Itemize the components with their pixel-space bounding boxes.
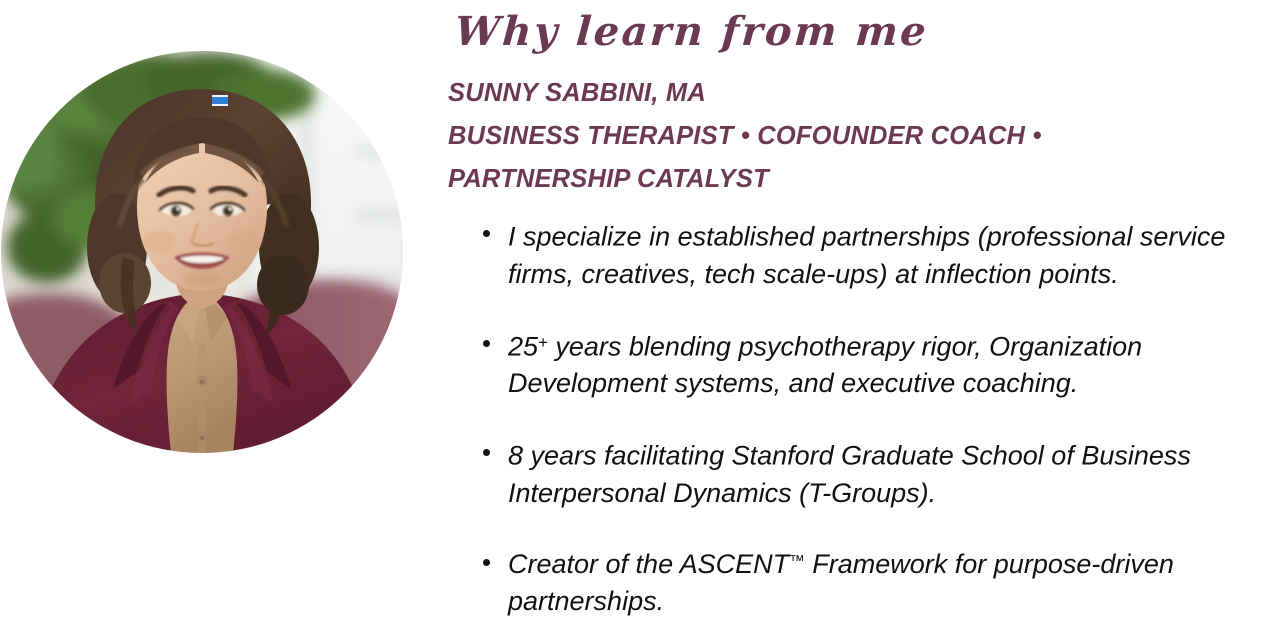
bullet-text: I specialize in established partnerships…	[508, 214, 1280, 293]
list-item: 8 years facilitating Stanford Graduate S…	[470, 433, 1280, 512]
bullet-body: 8 years facilitating Stanford Graduate S…	[508, 441, 1191, 508]
content-column: Why learn from me SUNNY SABBINI, MA BUSI…	[448, 0, 1280, 613]
photo-window-artifact	[212, 95, 228, 106]
bullet-text: 8 years facilitating Stanford Graduate S…	[508, 433, 1280, 512]
bullet-body: years blending psychotherapy rigor, Orga…	[508, 331, 1142, 398]
bullet-dot-icon	[483, 449, 490, 456]
credential-line-roles-2: PARTNERSHIP CATALYST	[448, 158, 1068, 201]
bullet-prefix: Creator of the ASCENT	[508, 549, 789, 579]
slide-canvas: Why learn from me SUNNY SABBINI, MA BUSI…	[0, 0, 1280, 613]
speaker-credentials: SUNNY SABBINI, MA BUSINESS THERAPIST • C…	[448, 72, 1068, 201]
trademark-icon: ™	[789, 553, 805, 570]
portrait-photo	[1, 51, 403, 453]
bullet-dot-icon	[483, 230, 490, 237]
list-item: I specialize in established partnerships…	[470, 214, 1280, 293]
portrait-avatar	[1, 51, 403, 453]
bullet-text: Creator of the ASCENT™ Framework for pur…	[508, 543, 1280, 620]
bullet-text: 25+ years blending psychotherapy rigor, …	[508, 324, 1280, 403]
credentials-bullet-list: I specialize in established partnerships…	[470, 214, 1280, 620]
credential-line-name: SUNNY SABBINI, MA	[448, 72, 1068, 115]
bullet-dot-icon	[483, 340, 490, 347]
bullet-dot-icon	[483, 559, 490, 566]
bullet-prefix: 25	[508, 331, 538, 361]
bullet-body: I specialize in established partnerships…	[508, 222, 1225, 289]
list-item: 25+ years blending psychotherapy rigor, …	[470, 324, 1280, 403]
bullet-marker: +	[538, 333, 548, 352]
page-title: Why learn from me	[453, 8, 930, 55]
list-item: Creator of the ASCENT™ Framework for pur…	[470, 543, 1280, 620]
credential-line-roles-1: BUSINESS THERAPIST • COFOUNDER COACH •	[448, 115, 1068, 158]
